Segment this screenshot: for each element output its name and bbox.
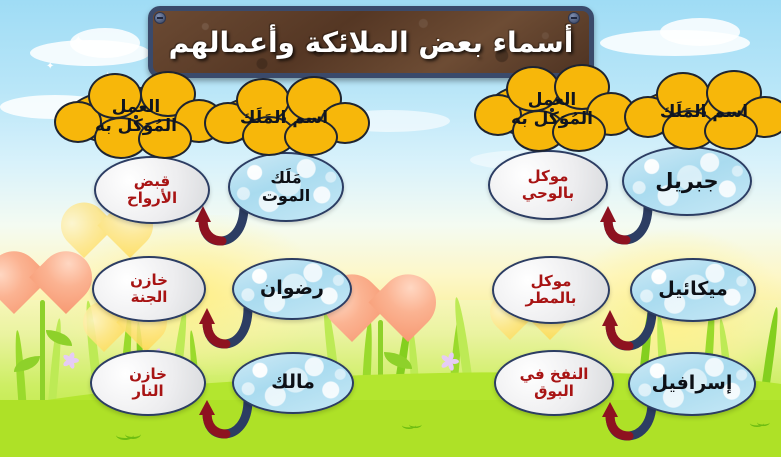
- angel-name-oval[interactable]: ميكائيل: [630, 258, 756, 322]
- angel-duty-oval[interactable]: قبض الأرواح: [94, 156, 210, 224]
- heart-flower-icon: [14, 262, 66, 314]
- angel-duty-oval[interactable]: موكل بالمطر: [492, 256, 610, 324]
- angel-name-text: جبريل: [655, 169, 718, 193]
- screw-icon: [154, 12, 166, 24]
- sparkle-icon: ✦: [46, 62, 54, 72]
- angel-duty-line2: النار: [132, 382, 163, 400]
- background-cloud: [660, 18, 740, 46]
- page-title: أسماء بعض الملائكة وأعمالهم: [169, 26, 574, 59]
- angel-duty-line1: خازن: [129, 365, 167, 383]
- angel-name-oval[interactable]: إسرافيل: [628, 352, 756, 416]
- header-cloud-right-duty: العمل المُوَكل به: [486, 80, 618, 140]
- angel-duty-line1: موكل: [531, 272, 572, 290]
- angel-duty-line2: البوق: [534, 382, 574, 400]
- angel-duty-oval[interactable]: موكل بالوحي: [488, 150, 608, 220]
- angel-duty-line1: خازن: [130, 271, 168, 289]
- daisy-flower-icon: [440, 352, 458, 370]
- angel-name-line1: مَلَك: [270, 168, 301, 187]
- header-cloud-right-name: اسم المَلَك: [636, 86, 772, 140]
- angel-name-oval[interactable]: رضوان: [232, 258, 352, 320]
- header-left-duty-line2: المُوَكل به: [95, 116, 177, 136]
- bird-icon: [116, 430, 134, 440]
- header-left-name: اسم المَلَك: [240, 109, 328, 128]
- angel-name-text: ميكائيل: [658, 279, 728, 301]
- angel-duty-line2: الجنة: [131, 288, 168, 306]
- angel-duty-line2: بالمطر: [526, 289, 577, 307]
- angel-duty-line1: قبض: [134, 172, 170, 190]
- angel-name-text: رضوان: [260, 278, 324, 300]
- angel-duty-line2: الأرواح: [127, 189, 177, 207]
- angel-duty-oval[interactable]: خازن النار: [90, 350, 206, 416]
- angel-duty-line1: النفخ في: [520, 365, 589, 383]
- connector-arrow-icon: [596, 204, 658, 250]
- angel-name-text: مالك: [271, 372, 315, 394]
- header-cloud-left-duty: العمل المُوَكل به: [66, 87, 206, 147]
- sparkle-icon: ✦: [72, 34, 85, 49]
- angel-name-line2: الموت: [262, 186, 310, 205]
- header-right-name: اسم المَلَك: [660, 103, 748, 122]
- angel-duty-line2: بالوحي: [522, 184, 574, 202]
- poster-canvas: ✦ ✦ ✦: [0, 0, 781, 457]
- angel-name-oval[interactable]: جبريل: [622, 146, 752, 216]
- header-left-duty-line1: العمل: [112, 97, 160, 117]
- header-right-duty-line2: المُوَكل به: [511, 109, 593, 129]
- header-right-duty-line1: العمل: [528, 90, 576, 110]
- angel-name-text: إسرافيل: [652, 373, 733, 395]
- angel-duty-line1: موكل: [528, 167, 569, 185]
- connector-arrow-icon: [196, 306, 260, 354]
- angel-name-oval[interactable]: مالك: [232, 352, 354, 414]
- screw-icon: [568, 12, 580, 24]
- heart-flower-icon: [352, 286, 408, 342]
- bird-icon: [750, 419, 764, 427]
- bird-icon: [402, 421, 416, 429]
- angel-name-oval[interactable]: مَلَك الموت: [228, 152, 344, 222]
- daisy-flower-icon: [62, 352, 78, 368]
- header-cloud-left-name: اسم المَلَك: [216, 92, 352, 146]
- angel-duty-oval[interactable]: خازن الجنة: [92, 256, 206, 322]
- angel-duty-oval[interactable]: النفخ في البوق: [494, 350, 614, 416]
